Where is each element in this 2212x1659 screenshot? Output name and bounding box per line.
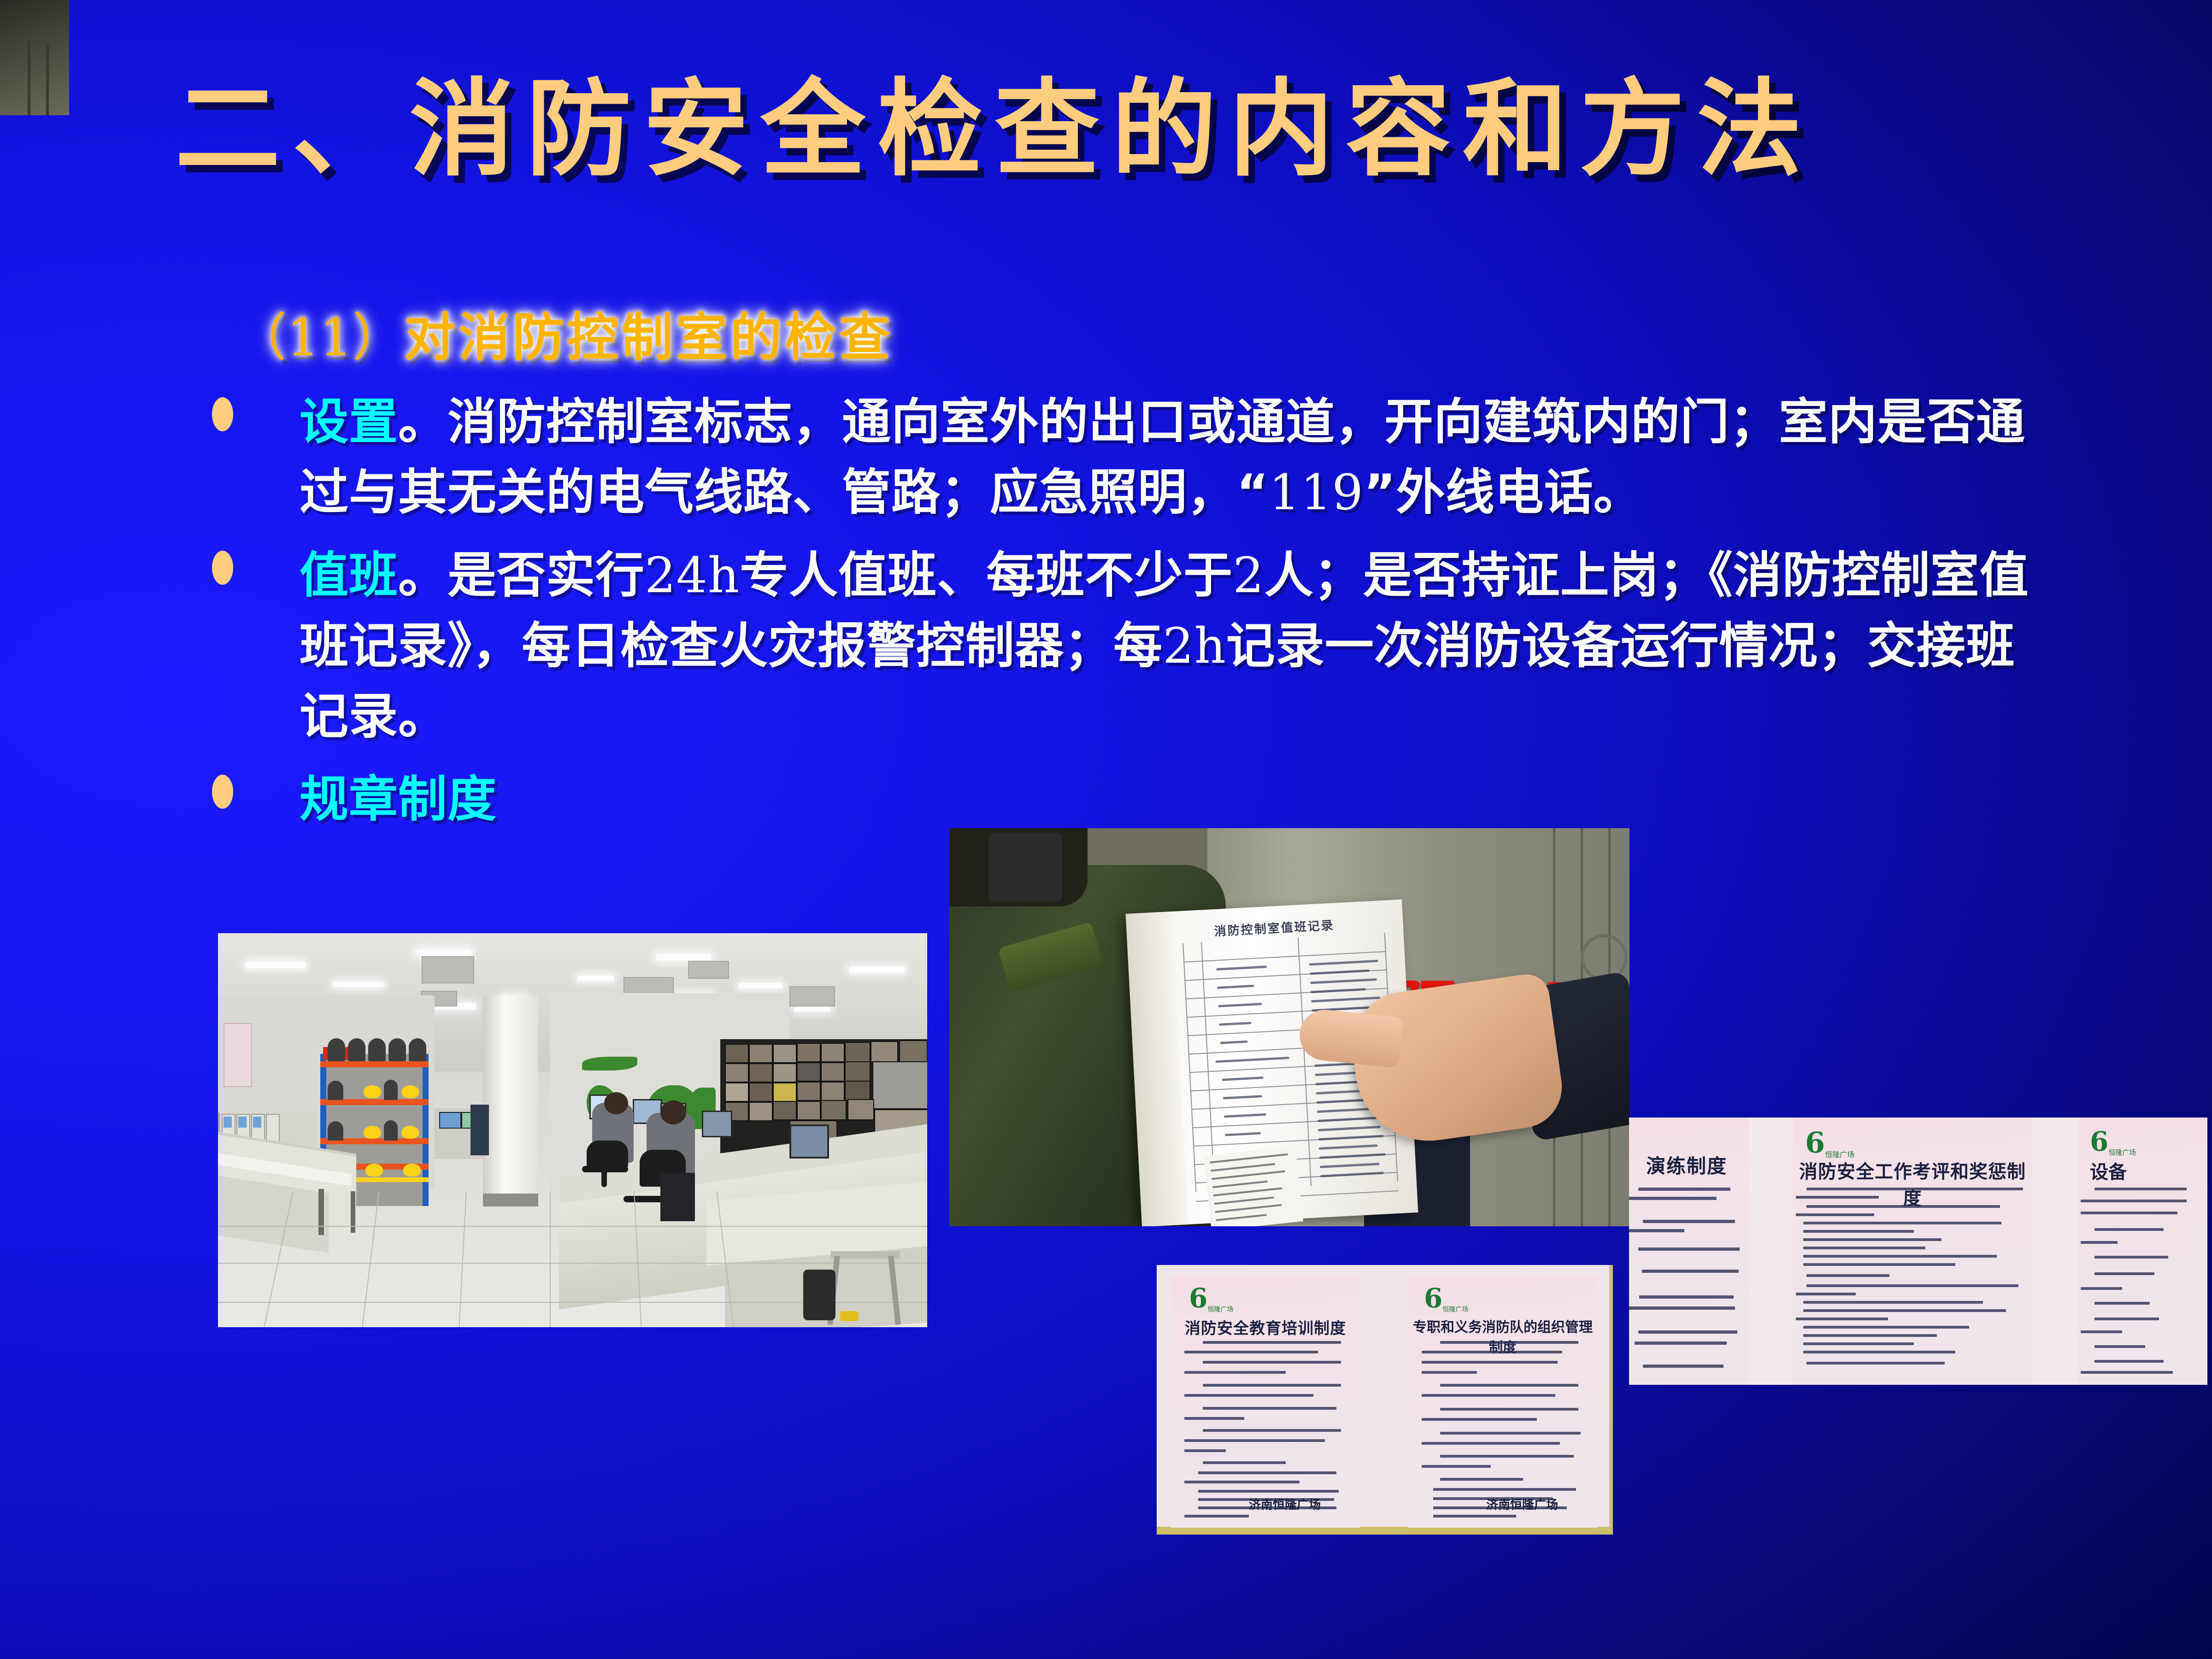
bullet-text-3: 规章制度 (300, 765, 2032, 835)
bullet-keyword: 设置 (300, 394, 398, 450)
brand-logo-icon: 6 恒隆广场 (1424, 1282, 1468, 1314)
list-item: 设置。消防控制室标志，通向室外的出口或通道，开向建筑内的门；室内是否通过与其无关… (198, 387, 2032, 528)
subtitle-number: （11） (235, 308, 404, 368)
brand-name: 恒隆广场 (2108, 1148, 2136, 1157)
photo-edge-fragment (0, 0, 69, 115)
brand-logo-icon: 6 恒隆广场 (1805, 1126, 1854, 1159)
brand-name: 恒隆广场 (1442, 1306, 1468, 1313)
subtitle-text: 对消防控制室的检查 (404, 308, 894, 368)
bullet-keyword: 值班 (300, 547, 398, 604)
board-footer: 济南恒隆广场 (1249, 1495, 1321, 1512)
board-footer: 济南恒隆广场 (1486, 1495, 1558, 1512)
list-item: 规章制度 (198, 765, 2032, 835)
brand-logo-icon: 6 恒隆广场 (1189, 1282, 1233, 1314)
list-item: 值班。是否实行24h专人值班、每班不少于2人；是否持证上岗；《消防控制室值班记录… (198, 541, 2032, 752)
section-subtitle: （11）对消防控制室的检查 (235, 296, 894, 371)
page-title: 二、消防安全检查的内容和方法 (175, 74, 2018, 185)
board-title: 专职和义务消防队的组织管理制度 (1408, 1316, 1598, 1356)
oval-bullet-icon (212, 397, 233, 431)
board-title-partial: 设备 (2090, 1157, 2205, 1184)
bullet-keyword: 规章制度 (300, 771, 497, 828)
bullet-list: 设置。消防控制室标志，通向室外的出口或通道，开向建筑内的门；室内是否通过与其无关… (198, 387, 2032, 848)
brand-name: 恒隆广场 (1207, 1306, 1233, 1313)
board-title: 消防安全教育培训制度 (1171, 1316, 1360, 1338)
fire-control-room-photo (218, 933, 927, 1327)
bullet-body: 。消防控制室标志，通向室外的出口或通道，开向建筑内的门；室内是否通过与其无关的电… (300, 394, 2025, 521)
slide-canvas: 二、消防安全检查的内容和方法 （11）对消防控制室的检查 设置。消防控制室标志，… (0, 0, 2212, 1659)
regulation-boards-right-photo: 演练制度 6 恒隆广场 消防安全工作考评和奖惩制度 (1629, 1118, 2207, 1385)
bullet-body: 。是否实行24h专人值班、每班不少于2人；是否持证上岗；《消防控制室值班记录》，… (300, 547, 2029, 744)
regulation-boards-bottom-photo: 6 恒隆广场 消防安全教育培训制度 济南恒隆广场 6 恒隆广场 专职和义务消防队… (1157, 1265, 1613, 1535)
brand-logo-icon: 6 恒隆广场 (2090, 1126, 2136, 1157)
board-title-partial: 演练制度 (1629, 1151, 1744, 1179)
oval-bullet-icon (212, 775, 233, 809)
duty-logbook-inspection-photo: 限公司 消防控制室值班记录 (949, 828, 1630, 1226)
board-title: 消防安全工作考评和奖惩制度 (1793, 1157, 2032, 1210)
bullet-text-2: 值班。是否实行24h专人值班、每班不少于2人；是否持证上岗；《消防控制室值班记录… (300, 541, 2032, 752)
bullet-text-1: 设置。消防控制室标志，通向室外的出口或通道，开向建筑内的门；室内是否通过与其无关… (300, 387, 2032, 528)
oval-bullet-icon (212, 551, 233, 585)
